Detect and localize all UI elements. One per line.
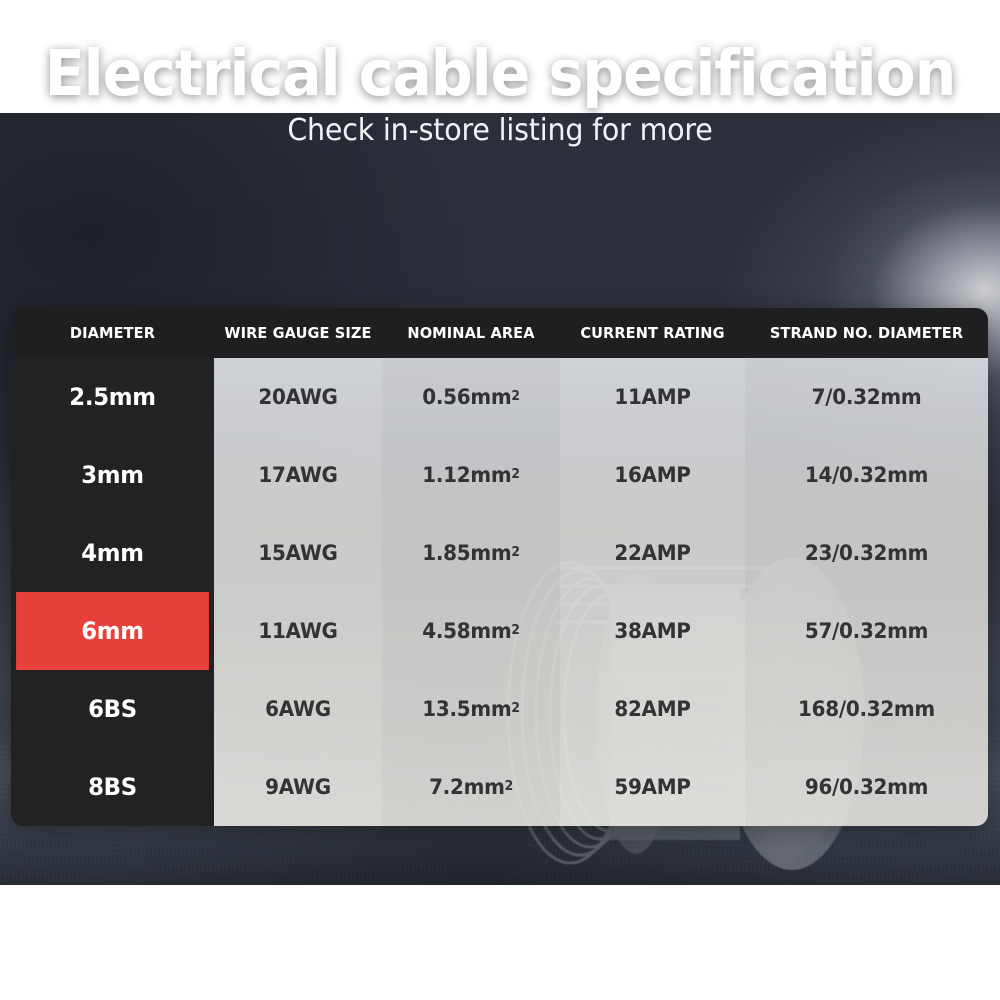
table-row: 9AWG7.2mm259AMP96/0.32mm	[214, 748, 988, 826]
table-row: 15AWG1.85mm222AMP23/0.32mm	[214, 514, 988, 592]
cell-current-rating: 59AMP	[565, 748, 741, 826]
cell-nominal-area: 1.12mm2	[386, 436, 555, 514]
diameter-cell-highlighted[interactable]: 6mm	[16, 592, 209, 670]
cell-strand-no-diameter: 14/0.32mm	[751, 436, 982, 514]
cell-current-rating: 38AMP	[565, 592, 741, 670]
table-row: 11AWG4.58mm238AMP57/0.32mm	[214, 592, 988, 670]
table-header-row: DIAMETERWIRE GAUGE SIZENOMINAL AREACURRE…	[11, 308, 988, 358]
cell-wire-gauge-size: 11AWG	[218, 592, 378, 670]
table-body: 2.5mm3mm4mm6mm6BS8BS 20AWG0.56mm211AMP7/…	[11, 358, 988, 826]
data-columns: 20AWG0.56mm211AMP7/0.32mm17AWG1.12mm216A…	[214, 358, 988, 826]
cell-nominal-area: 1.85mm2	[386, 514, 555, 592]
cell-nominal-area: 4.58mm2	[386, 592, 555, 670]
column-header-wire-gauge-size: WIRE GAUGE SIZE	[219, 324, 377, 342]
cell-strand-no-diameter: 23/0.32mm	[751, 514, 982, 592]
page-title: Electrical cable specification	[35, 42, 965, 105]
cell-strand-no-diameter: 7/0.32mm	[751, 358, 982, 436]
title-block: Electrical cable specification Check in-…	[0, 42, 1000, 146]
cell-strand-no-diameter: 96/0.32mm	[751, 748, 982, 826]
cell-current-rating: 22AMP	[565, 514, 741, 592]
cell-nominal-area: 7.2mm2	[386, 748, 555, 826]
cell-nominal-area: 0.56mm2	[386, 358, 555, 436]
cell-strand-no-diameter: 168/0.32mm	[751, 670, 982, 748]
spec-table: DIAMETERWIRE GAUGE SIZENOMINAL AREACURRE…	[11, 308, 988, 826]
cell-current-rating: 11AMP	[565, 358, 741, 436]
diameter-cell[interactable]: 2.5mm	[16, 358, 209, 436]
cell-wire-gauge-size: 6AWG	[218, 670, 378, 748]
table-row: 6AWG13.5mm282AMP168/0.32mm	[214, 670, 988, 748]
page-subtitle: Check in-store listing for more	[25, 116, 975, 146]
diameter-column: 2.5mm3mm4mm6mm6BS8BS	[11, 358, 214, 826]
cell-wire-gauge-size: 15AWG	[218, 514, 378, 592]
column-header-diameter: DIAMETER	[17, 324, 208, 342]
table-row: 17AWG1.12mm216AMP14/0.32mm	[214, 436, 988, 514]
cell-wire-gauge-size: 9AWG	[218, 748, 378, 826]
column-header-nominal-area: NOMINAL AREA	[387, 324, 554, 342]
diameter-cell[interactable]: 4mm	[16, 514, 209, 592]
diameter-cell[interactable]: 8BS	[16, 748, 209, 826]
cell-wire-gauge-size: 20AWG	[218, 358, 378, 436]
cell-current-rating: 82AMP	[565, 670, 741, 748]
diameter-cell[interactable]: 6BS	[16, 670, 209, 748]
column-header-current-rating: CURRENT RATING	[566, 324, 740, 342]
table-row: 20AWG0.56mm211AMP7/0.32mm	[214, 358, 988, 436]
cell-wire-gauge-size: 17AWG	[218, 436, 378, 514]
cell-current-rating: 16AMP	[565, 436, 741, 514]
product-spec-banner: Electrical cable specification Check in-…	[0, 0, 1000, 1000]
cell-strand-no-diameter: 57/0.32mm	[751, 592, 982, 670]
diameter-cell[interactable]: 3mm	[16, 436, 209, 514]
cell-nominal-area: 13.5mm2	[386, 670, 555, 748]
column-header-strand-no-diameter: STRAND NO. DIAMETER	[752, 324, 980, 342]
